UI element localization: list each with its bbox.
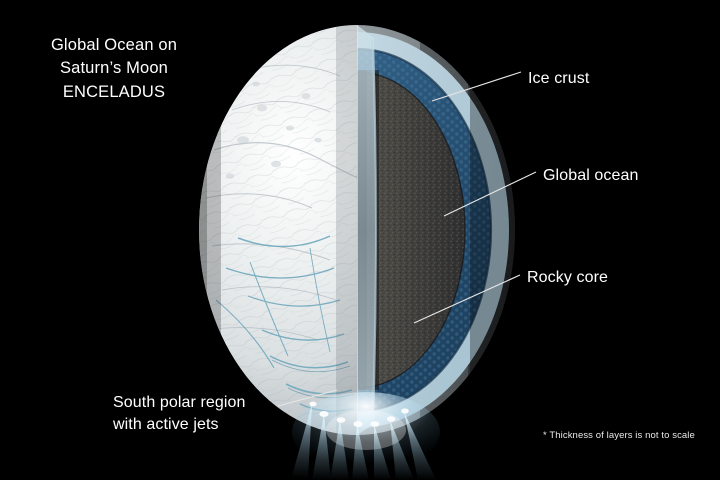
title-line-3: ENCELADUS	[24, 81, 204, 104]
label-south-polar-line-1: South polar region	[113, 392, 303, 414]
scale-footnote: * Thickness of layers is not to scale	[543, 430, 695, 441]
label-rocky-core: Rocky core	[527, 267, 608, 289]
enceladus-cutaway-figure: Global Ocean on Saturn’s Moon ENCELADUS …	[0, 0, 720, 480]
title-line-1: Global Ocean on	[24, 34, 204, 57]
title-line-2: Saturn’s Moon	[24, 57, 204, 80]
label-south-polar-region: South polar region with active jets	[113, 392, 303, 436]
figure-title: Global Ocean on Saturn’s Moon ENCELADUS	[24, 34, 204, 104]
south-polar-jets	[292, 392, 440, 480]
label-global-ocean: Global ocean	[543, 165, 639, 187]
label-ice-crust: Ice crust	[528, 68, 589, 90]
label-south-polar-line-2: with active jets	[113, 414, 303, 436]
cut-plane-ice-sheet	[357, 25, 377, 435]
